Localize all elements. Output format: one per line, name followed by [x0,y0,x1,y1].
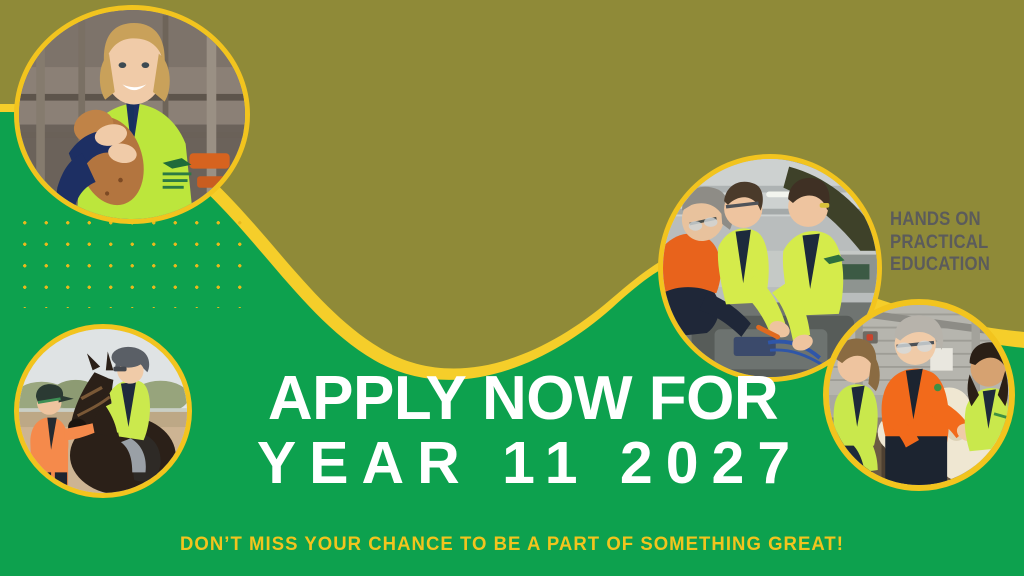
promotional-banner: HANDS ON PRACTICAL EDUCATION APPLY NOW F… [0,0,1024,576]
headline-line-year-11-2027: YEAR 11 2027 [0,430,1024,496]
tagline: DON’T MISS YOUR CHANCE TO BE A PART OF S… [26,533,999,556]
photo-calf [14,5,250,224]
headline-line-apply-now-for: APPLY NOW FOR [0,368,1024,430]
headline-block: APPLY NOW FOR YEAR 11 2027 [0,368,1024,496]
hands-on-practical-education-caption: HANDS ON PRACTICAL EDUCATION [890,208,1002,276]
photo-calf-image [19,10,245,219]
